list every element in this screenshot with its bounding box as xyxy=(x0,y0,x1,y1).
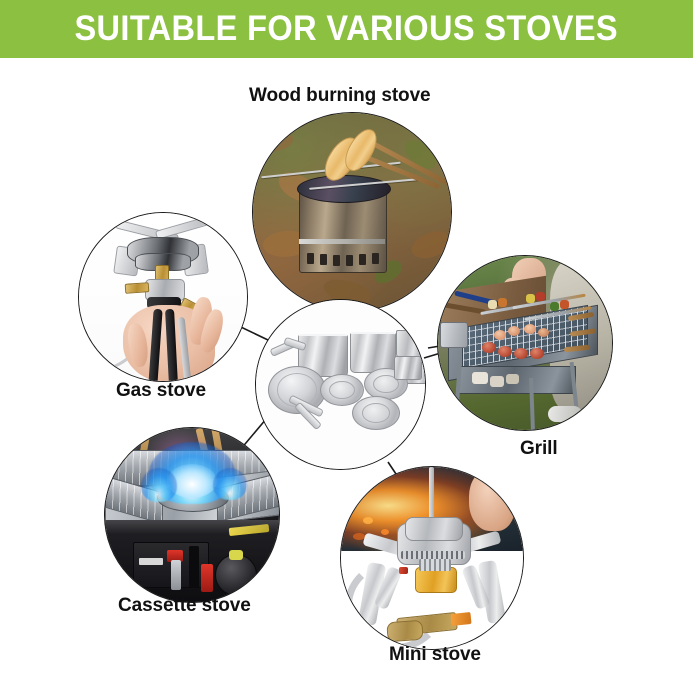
circle-grill[interactable] xyxy=(437,255,613,431)
photo-cookware-set xyxy=(256,300,425,469)
label-gas-stove: Gas stove xyxy=(116,380,206,402)
label-cassette-stove: Cassette stove xyxy=(118,595,251,617)
label-grill: Grill xyxy=(520,438,558,460)
circle-mini-stove[interactable] xyxy=(340,466,524,650)
circle-cookware-set[interactable] xyxy=(255,299,426,470)
circle-wood-burning-stove[interactable] xyxy=(252,112,452,312)
label-wood-burning-stove: Wood burning stove xyxy=(249,85,431,107)
label-mini-stove: Mini stove xyxy=(389,644,481,666)
photo-cassette-stove xyxy=(105,428,279,602)
photo-mini-stove xyxy=(341,467,523,649)
photo-gas-stove xyxy=(79,213,247,381)
photo-grill xyxy=(438,256,612,430)
infographic-canvas: SUITABLE FOR VARIOUS STOVES xyxy=(0,0,693,693)
photo-wood-burning-stove xyxy=(253,113,451,311)
circle-cassette-stove[interactable] xyxy=(104,427,280,603)
circle-gas-stove[interactable] xyxy=(78,212,248,382)
